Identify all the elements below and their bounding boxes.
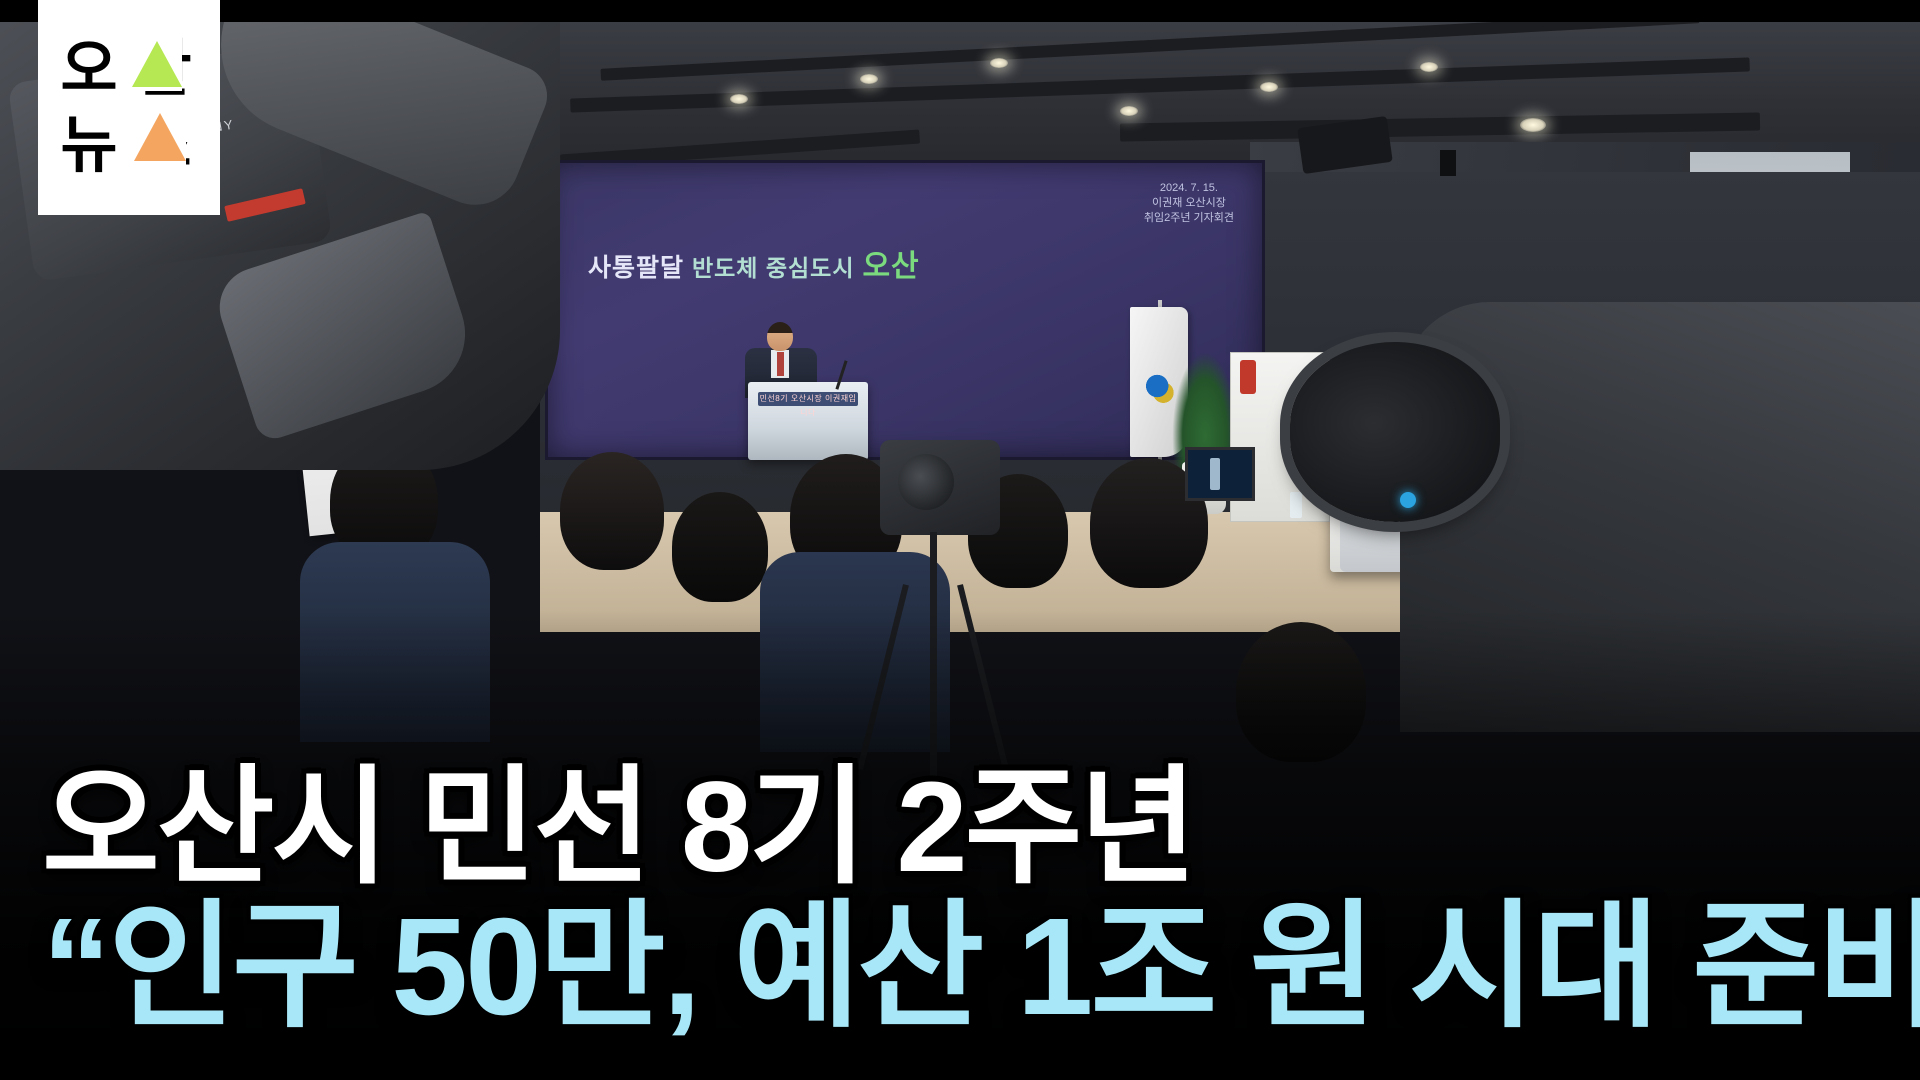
camera-monitor	[1185, 447, 1255, 501]
headline-line-1: 오산시 민선 8기 2주년	[42, 764, 1880, 892]
screen-date-line3: 취임2주년 기자회견	[1144, 211, 1234, 226]
wall-speaker-mount	[1440, 150, 1456, 176]
logo-char-nyu: 뉴	[56, 113, 122, 179]
camera-monitor-preview	[1210, 458, 1220, 490]
camera-mid-lens	[898, 454, 954, 510]
speaker-tie	[777, 352, 784, 376]
screen-date-line2: 이권재 오산시장	[1144, 196, 1234, 211]
audience-head	[672, 492, 768, 602]
orange-triangle-icon	[134, 113, 186, 161]
osan-city-flag-emblem	[1146, 374, 1174, 404]
green-triangle-icon	[132, 41, 182, 87]
logo-glyph-grid: 오 산 뉴 스	[54, 33, 204, 183]
podium-label: 민선8기 오산시장 이권재입니다	[758, 392, 858, 420]
letterbox-bottom	[0, 1044, 1920, 1080]
screen-title-city: 오산	[862, 250, 919, 283]
screen-title-main: 반도체 중심도시	[692, 255, 855, 281]
speaker-head	[767, 322, 793, 351]
screen-title: 사통팔달 반도체 중심도시 오산	[588, 241, 1008, 285]
camera-right-tally-light	[1400, 492, 1416, 508]
podium-label-band: 민선8기 오산시장 이권재입니다	[758, 392, 858, 406]
broadcast-thumbnail: 사통팔달 반도체 중심도시 오산 2024. 7. 15. 이권재 오산시장 취…	[0, 0, 1920, 1080]
letterbox-top	[0, 0, 1920, 22]
camera-right-lens	[1290, 342, 1500, 522]
headline-line-2: “인구 50만, 예산 1조 원 시대 준비”	[42, 898, 1880, 1036]
audience-head	[560, 452, 664, 570]
osan-news-logo[interactable]: 오 산 뉴 스	[38, 0, 220, 215]
logo-char-o: 오	[56, 37, 122, 103]
screen-title-left: 사통팔달	[588, 254, 684, 282]
water-bottle	[1290, 492, 1302, 518]
screen-date-line1: 2024. 7. 15.	[1144, 181, 1234, 196]
screen-date-block: 2024. 7. 15. 이권재 오산시장 취임2주년 기자회견	[1144, 181, 1234, 226]
podium: 민선8기 오산시장 이권재입니다	[748, 382, 868, 460]
headline-block: 오산시 민선 8기 2주년 “인구 50만, 예산 1조 원 시대 준비”	[0, 764, 1920, 1044]
fire-extinguisher	[1240, 360, 1256, 394]
